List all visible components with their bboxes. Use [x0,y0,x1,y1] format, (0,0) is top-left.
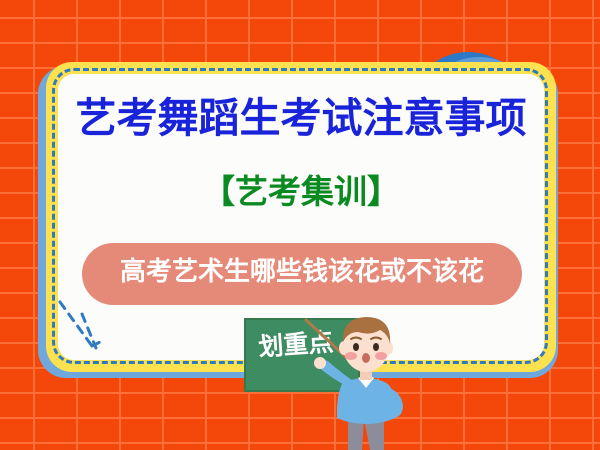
left-eye [353,343,359,351]
page-subtitle: 【艺考集训】 [58,175,544,208]
right-eye [373,343,379,351]
left-hand [314,357,326,369]
banner-text: 高考艺术生哪些钱该花或不该花 [82,258,522,284]
dashed-arrow-decoration [52,300,122,370]
left-cheek [345,352,357,360]
poster-canvas: 艺考舞蹈生考试注意事项 【艺考集训】 高考艺术生哪些钱该花或不该花 划重点 [0,0,600,450]
boy-teacher-illustration [300,300,430,450]
mouth [362,353,370,363]
right-cheek [375,352,387,360]
page-title: 艺考舞蹈生考试注意事项 [58,98,544,139]
